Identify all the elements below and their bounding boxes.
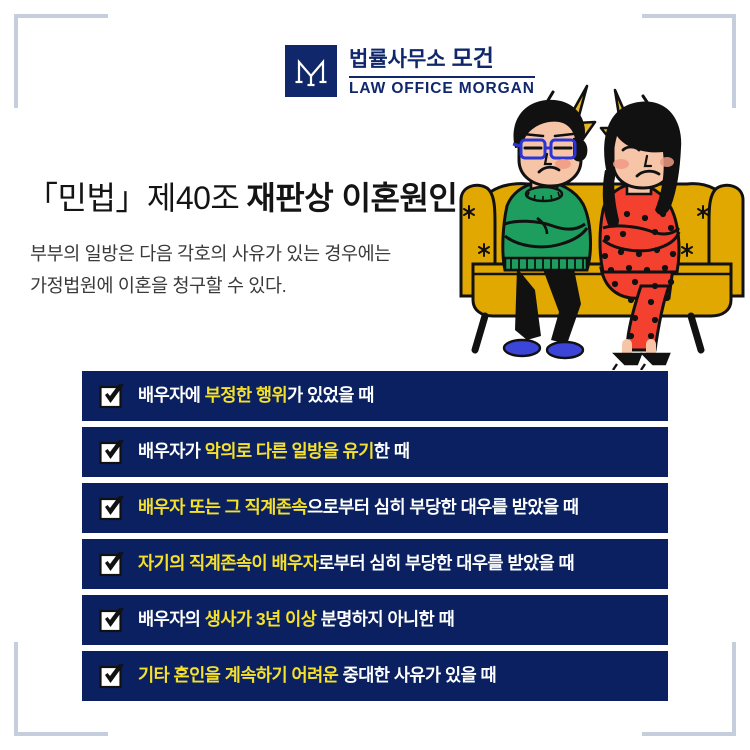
checkbox-checked-icon[interactable]: [99, 551, 125, 577]
checklist-row[interactable]: 기타 혼인을 계속하기 어려운 중대한 사유가 있을 때: [82, 651, 668, 701]
highlighted-phrase: 생사가 3년 이상: [205, 609, 317, 629]
checklist-row-label: 배우자의 생사가 3년 이상 분명하지 아니한 때: [138, 611, 454, 629]
highlighted-phrase: 자기의 직계존속이 배우자: [138, 553, 318, 573]
logo-name-prefix: 법률사무소: [349, 48, 446, 71]
logo-name-korean: 법률사무소모건: [349, 45, 535, 72]
checklist-row-label: 배우자에 부정한 행위가 있었을 때: [138, 387, 374, 405]
plain-phrase: 한 때: [374, 441, 410, 461]
arguing-couple-illustration: [455, 78, 750, 370]
logo-monogram-icon: [285, 45, 337, 97]
subtitle-line-1: 부부의 일방은 다음 각호의 사유가 있는 경우에는: [30, 238, 391, 270]
highlighted-phrase: 배우자 또는 그 직계존속: [138, 497, 307, 517]
plain-phrase: 가 있었을 때: [287, 385, 374, 405]
checklist-row[interactable]: 배우자에 부정한 행위가 있었을 때: [82, 371, 668, 421]
checkbox-checked-icon[interactable]: [99, 439, 125, 465]
divorce-grounds-checklist: 배우자에 부정한 행위가 있었을 때배우자가 악의로 다른 일방을 유기한 때배…: [82, 371, 668, 701]
plain-phrase: 분명하지 아니한 때: [316, 609, 454, 629]
plain-phrase: 배우자에: [138, 385, 205, 405]
plain-phrase: 배우자의: [138, 609, 205, 629]
man-figure: [503, 100, 591, 358]
highlighted-phrase: 악의로 다른 일방을 유기: [205, 441, 374, 461]
checklist-row[interactable]: 배우자의 생사가 3년 이상 분명하지 아니한 때: [82, 595, 668, 645]
highlighted-phrase: 부정한 행위: [205, 385, 287, 405]
logo-name-brand: 모건: [452, 45, 494, 71]
plain-phrase: 으로부터 심히 부당한 대우를 받았을 때: [307, 497, 578, 517]
checkbox-checked-icon[interactable]: [99, 607, 125, 633]
checklist-row[interactable]: 자기의 직계존속이 배우자로부터 심히 부당한 대우를 받았을 때: [82, 539, 668, 589]
subtitle-line-2: 가정법원에 이혼을 청구할 수 있다.: [30, 270, 391, 302]
checklist-row-label: 기타 혼인을 계속하기 어려운 중대한 사유가 있을 때: [138, 667, 496, 685]
law-reference: 「민법」제40조: [26, 180, 239, 216]
plain-phrase: 중대한 사유가 있을 때: [338, 665, 496, 685]
title-emphasis: 재판상 이혼원인: [246, 180, 457, 216]
checkbox-checked-icon[interactable]: [99, 383, 125, 409]
checklist-row[interactable]: 배우자가 악의로 다른 일방을 유기한 때: [82, 427, 668, 477]
plain-phrase: 배우자가: [138, 441, 205, 461]
plain-phrase: 로부터 심히 부당한 대우를 받았을 때: [318, 553, 574, 573]
checklist-row-label: 자기의 직계존속이 배우자로부터 심히 부당한 대우를 받았을 때: [138, 555, 574, 573]
woman-figure: [600, 102, 681, 370]
checkbox-checked-icon[interactable]: [99, 495, 125, 521]
page-subtitle: 부부의 일방은 다음 각호의 사유가 있는 경우에는 가정법원에 이혼을 청구할…: [30, 238, 391, 303]
checklist-row-label: 배우자가 악의로 다른 일방을 유기한 때: [138, 443, 409, 461]
checkbox-checked-icon[interactable]: [99, 663, 125, 689]
checklist-row-label: 배우자 또는 그 직계존속으로부터 심히 부당한 대우를 받았을 때: [138, 499, 579, 517]
checklist-row[interactable]: 배우자 또는 그 직계존속으로부터 심히 부당한 대우를 받았을 때: [82, 483, 668, 533]
highlighted-phrase: 기타 혼인을 계속하기 어려운: [138, 665, 338, 685]
corner-bracket-top-left: [14, 14, 108, 108]
infographic-canvas: 법률사무소모건 LAW OFFICE MORGAN 「민법」제40조재판상 이혼…: [0, 0, 750, 750]
page-title: 「민법」제40조재판상 이혼원인: [26, 180, 457, 217]
